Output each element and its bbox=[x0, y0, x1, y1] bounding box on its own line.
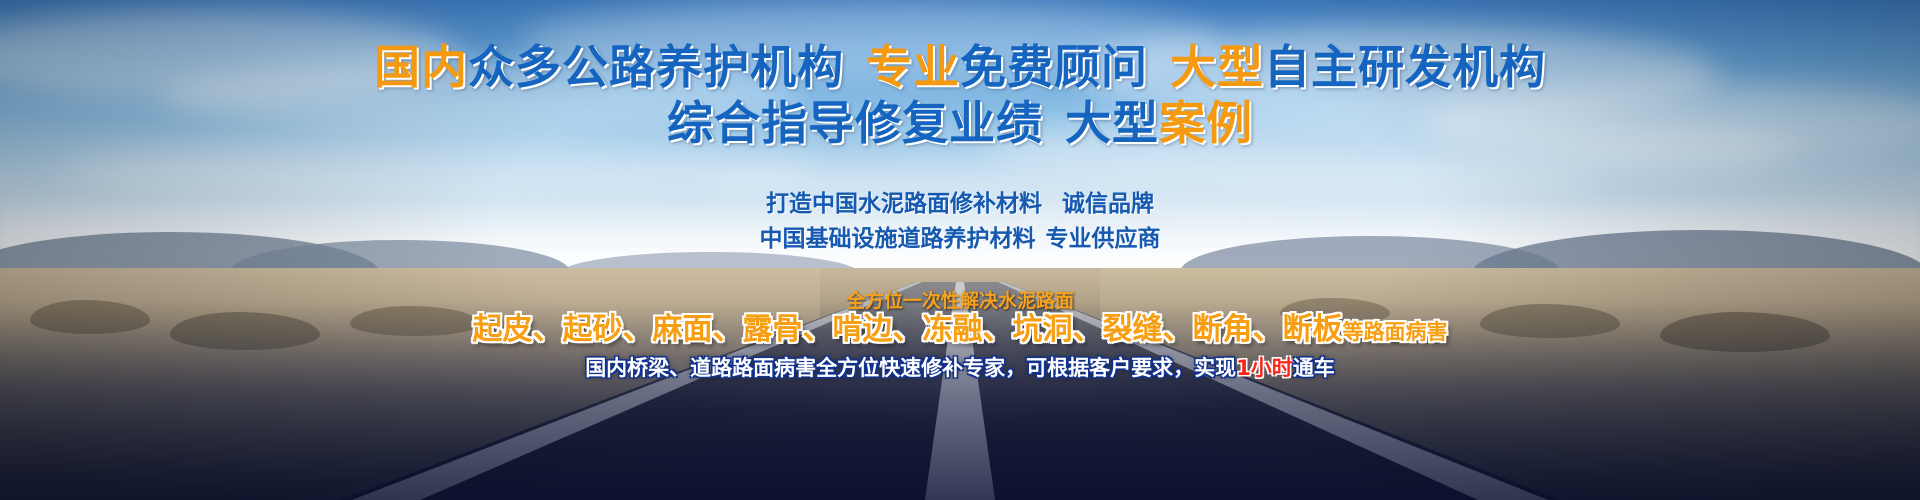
promotional-banner: 国内众多公路养护机构专业免费顾问大型自主研发机构 综合指导修复业绩大型案例 打造… bbox=[0, 0, 1920, 500]
headline-line-2: 综合指导修复业绩大型案例 bbox=[0, 100, 1920, 146]
headline1-seg-4: 免费顾问 bbox=[960, 40, 1148, 94]
subline1-text-a: 打造中国水泥路面修补材料 bbox=[766, 191, 1042, 217]
footer-text-a: 国内桥梁、道路路面病害全方位快速修补专家，可根据客户要求，实现 bbox=[585, 356, 1236, 380]
banner-text-layer: 国内众多公路养护机构专业免费顾问大型自主研发机构 综合指导修复业绩大型案例 打造… bbox=[0, 0, 1920, 500]
subline-2: 中国基础设施道路养护材料专业供应商 bbox=[0, 228, 1920, 251]
headline1-seg-6: 自主研发机构 bbox=[1264, 40, 1546, 94]
headline1-seg-3: 专业 bbox=[866, 40, 960, 94]
subline-1: 打造中国水泥路面修补材料诚信品牌 bbox=[0, 193, 1920, 216]
distress-caption: 全方位一次性解决水泥路面 bbox=[0, 292, 1920, 311]
headline1-seg-1: 国内 bbox=[374, 40, 468, 94]
subline1-text-b: 诚信品牌 bbox=[1062, 191, 1154, 217]
headline2-seg-1: 综合指导修复业绩 bbox=[667, 96, 1043, 150]
headline1-seg-2: 众多公路养护机构 bbox=[468, 40, 844, 94]
subline2-text-a: 中国基础设施道路养护材料 bbox=[760, 226, 1036, 252]
headline-line-1: 国内众多公路养护机构专业免费顾问大型自主研发机构 bbox=[0, 44, 1920, 90]
footer-claim: 国内桥梁、道路路面病害全方位快速修补专家，可根据客户要求，实现1小时通车 bbox=[0, 358, 1920, 379]
subline2-text-b: 专业供应商 bbox=[1046, 226, 1161, 252]
distress-items: 起皮、起砂、麻面、露骨、啃边、冻融、坑洞、裂缝、断角、断板 bbox=[473, 312, 1343, 347]
footer-highlight: 1小时 bbox=[1236, 356, 1293, 380]
footer-text-b: 通车 bbox=[1293, 356, 1335, 380]
distress-tail: 等路面病害 bbox=[1343, 320, 1448, 344]
distress-list: 起皮、起砂、麻面、露骨、啃边、冻融、坑洞、裂缝、断角、断板等路面病害 bbox=[0, 315, 1920, 345]
headline2-seg-3: 案例 bbox=[1159, 96, 1253, 150]
headline2-seg-2: 大型 bbox=[1065, 96, 1159, 150]
headline1-seg-5: 大型 bbox=[1170, 40, 1264, 94]
